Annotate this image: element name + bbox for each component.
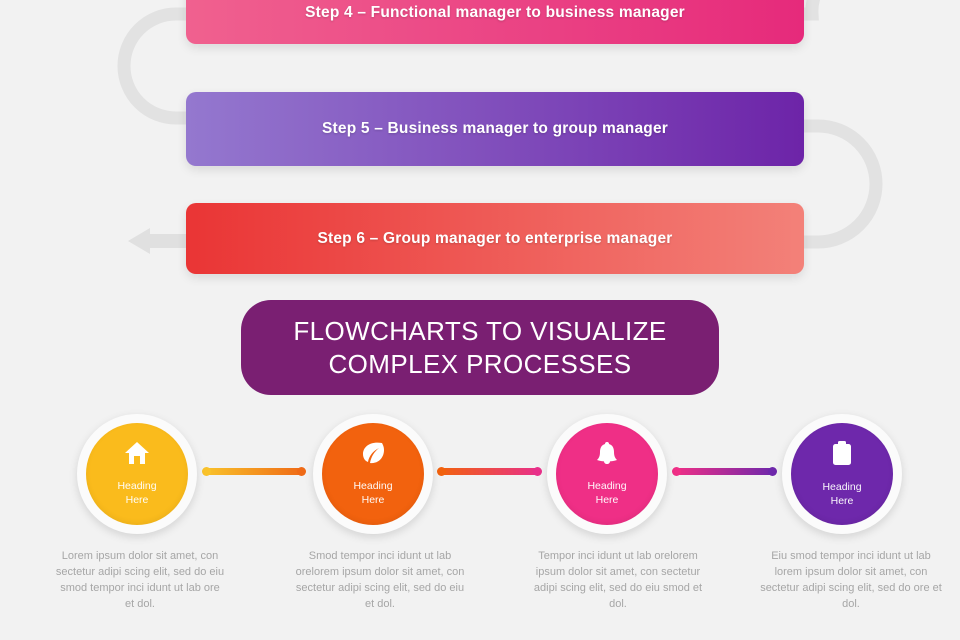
node-2-heading: Heading Here — [353, 479, 392, 507]
page-title-line2: COMPLEX PROCESSES — [329, 349, 632, 379]
node-item-3[interactable]: Heading Here — [542, 409, 672, 539]
title-banner: FLOWCHARTS TO VISUALIZE COMPLEX PROCESSE… — [241, 300, 719, 395]
node-3-caption: Tempor inci idunt ut lab orelorem ipsum … — [525, 548, 711, 612]
node-row: Heading Here Heading Here — [0, 405, 960, 550]
node-2-heading-line2: Here — [362, 494, 385, 506]
node-4-heading-line1: Heading — [822, 481, 861, 493]
step-bar-5[interactable]: Step 5 – Business manager to group manag… — [186, 92, 804, 166]
step-bar-4-label: Step 4 – Functional manager to business … — [305, 4, 685, 22]
node-4-heading: Heading Here — [822, 480, 861, 508]
node-item-2[interactable]: Heading Here — [308, 409, 438, 539]
step-bar-6[interactable]: Step 6 – Group manager to enterprise man… — [186, 203, 804, 274]
bell-icon — [594, 441, 620, 470]
node-item-1[interactable]: Heading Here — [72, 409, 202, 539]
node-1-heading: Heading Here — [117, 479, 156, 507]
node-3-disc[interactable]: Heading Here — [556, 423, 658, 525]
node-1-heading-line1: Heading — [117, 480, 156, 492]
node-4-caption: Eiu smod tempor inci idunt ut lab lorem … — [760, 548, 942, 612]
node-1-caption: Lorem ipsum dolor sit amet, con sectetur… — [55, 548, 225, 612]
node-3-heading-line2: Here — [596, 494, 619, 506]
home-icon — [124, 441, 150, 470]
infographic-canvas: Step 4 – Functional manager to business … — [0, 0, 960, 640]
clipboard-icon — [831, 441, 853, 471]
curve-right-step5-step6 — [794, 126, 876, 242]
node-1-heading-line2: Here — [126, 494, 149, 506]
node-3-heading: Heading Here — [587, 479, 626, 507]
leaf-icon — [360, 441, 386, 470]
page-title: FLOWCHARTS TO VISUALIZE COMPLEX PROCESSE… — [293, 315, 666, 381]
node-1-disc[interactable]: Heading Here — [86, 423, 188, 525]
node-2-heading-line1: Heading — [353, 480, 392, 492]
node-2-caption: Smod tempor inci idunt ut lab orelorem i… — [290, 548, 470, 612]
node-4-heading-line2: Here — [831, 495, 854, 507]
node-4-disc[interactable]: Heading Here — [791, 423, 893, 525]
step-bar-6-label: Step 6 – Group manager to enterprise man… — [317, 230, 672, 248]
node-3-heading-line1: Heading — [587, 480, 626, 492]
step-bar-4[interactable]: Step 4 – Functional manager to business … — [186, 0, 804, 44]
step-bar-5-label: Step 5 – Business manager to group manag… — [322, 120, 668, 138]
node-item-4[interactable]: Heading Here — [777, 409, 907, 539]
page-title-line1: FLOWCHARTS TO VISUALIZE — [293, 316, 666, 346]
node-2-disc[interactable]: Heading Here — [322, 423, 424, 525]
